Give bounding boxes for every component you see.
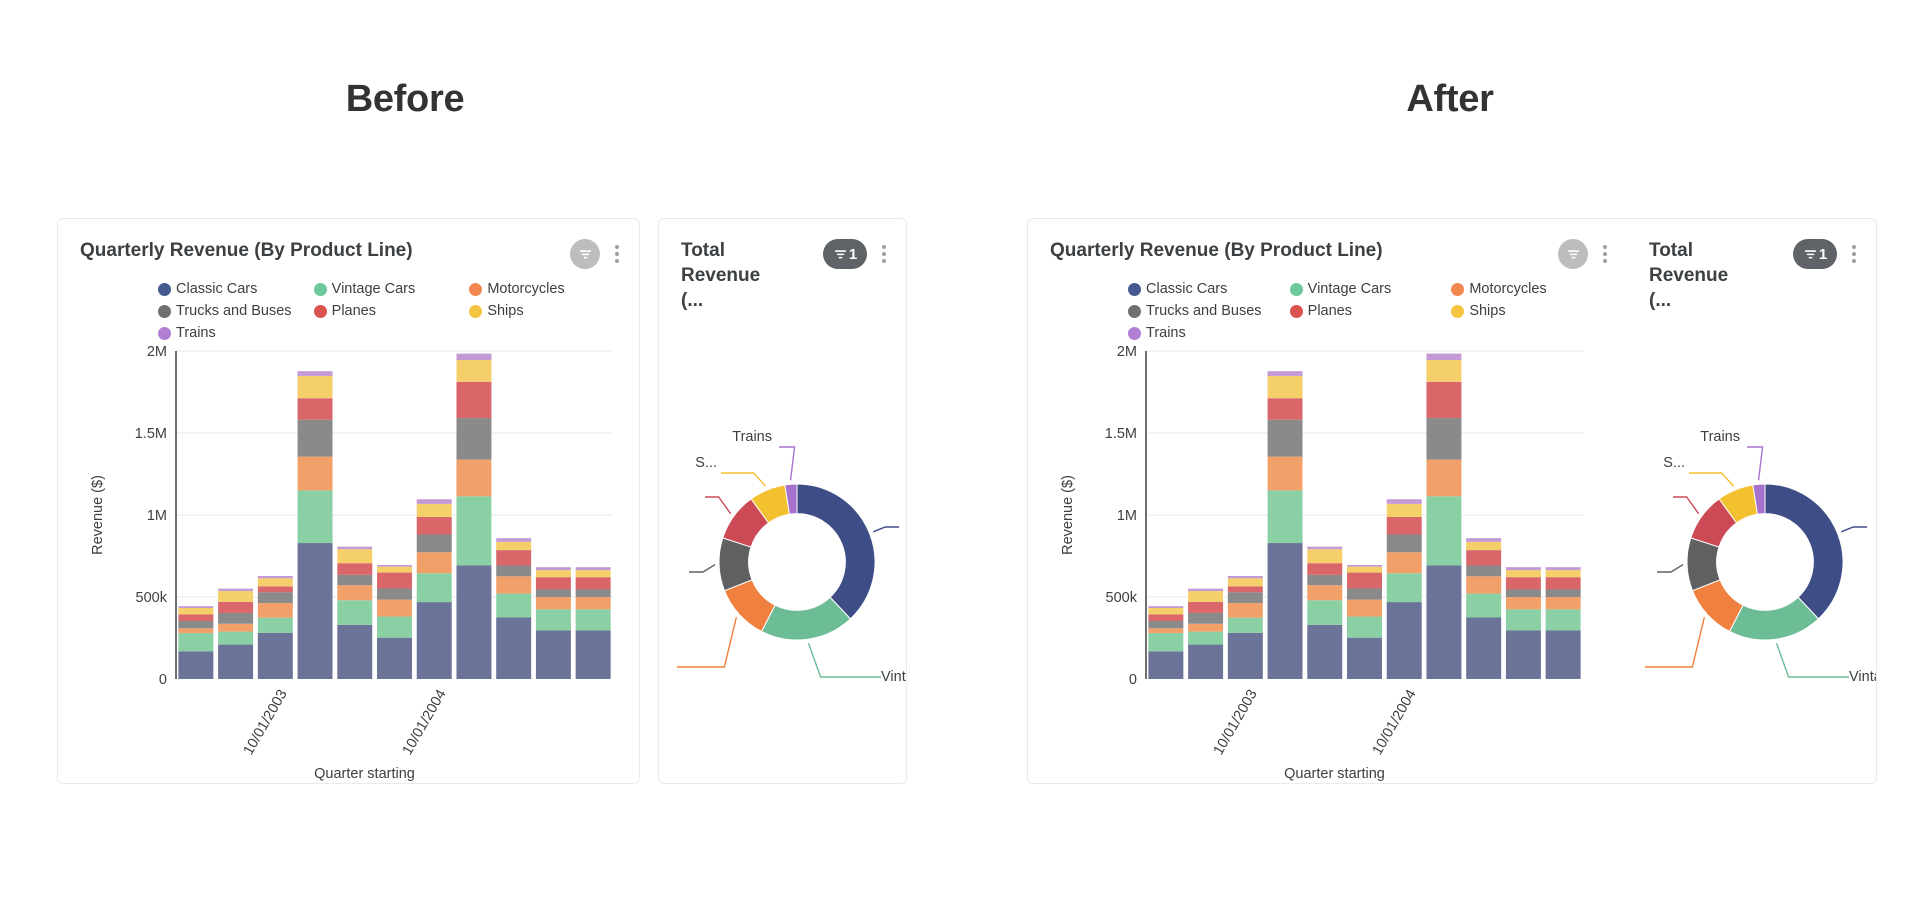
filter-icon-active[interactable]: 1 bbox=[823, 239, 867, 269]
kebab-menu-icon[interactable] bbox=[876, 241, 892, 267]
legend-swatch-trains bbox=[158, 327, 171, 340]
legend-label: Vintage Cars bbox=[1308, 281, 1392, 297]
legend-item[interactable]: Trains bbox=[1128, 325, 1290, 341]
filter-icon[interactable] bbox=[1558, 239, 1588, 269]
svg-text:Vintage...: Vintage... bbox=[1849, 669, 1876, 685]
panel-title: Quarterly Revenue (By Product Line) bbox=[1050, 238, 1383, 263]
legend-swatch-planes bbox=[314, 305, 327, 318]
legend-label: Ships bbox=[487, 303, 523, 319]
svg-text:1.5M: 1.5M bbox=[1105, 426, 1137, 442]
panel-header: Quarterly Revenue (By Product Line) bbox=[1028, 219, 1627, 269]
legend-item[interactable]: Ships bbox=[1451, 303, 1613, 319]
legend-label: Planes bbox=[332, 303, 376, 319]
bar-plot-area: 0500k1M1.5M2M10/01/200310/01/2004Quarter… bbox=[1028, 341, 1627, 784]
svg-text:10/01/2004: 10/01/2004 bbox=[400, 687, 450, 758]
legend-item[interactable]: Planes bbox=[314, 303, 470, 319]
bar-chart-panel-before: Quarterly Revenue (By Product Line) bbox=[57, 218, 640, 784]
panel-title: Total Revenue (... bbox=[681, 238, 786, 313]
legend-swatch-trucks-and-buses bbox=[158, 305, 171, 318]
legend-item[interactable]: Ships bbox=[469, 303, 625, 319]
bar-chart-panel-after: Quarterly Revenue (By Product Line) bbox=[1027, 218, 1627, 784]
legend-item[interactable]: Planes bbox=[1290, 303, 1452, 319]
svg-text:10/01/2003: 10/01/2003 bbox=[1211, 687, 1261, 758]
svg-text:Trains: Trains bbox=[732, 429, 772, 445]
filter-count-badge: 1 bbox=[1819, 246, 1827, 263]
filter-icon-active[interactable]: 1 bbox=[1793, 239, 1837, 269]
svg-text:Quarter starting: Quarter starting bbox=[314, 766, 415, 782]
legend-swatch-classic-cars bbox=[158, 283, 171, 296]
chart-legend: Classic Cars Vintage Cars Motorcycles Tr… bbox=[58, 269, 639, 341]
svg-text:Vintage...: Vintage... bbox=[881, 669, 907, 685]
svg-text:0: 0 bbox=[159, 672, 167, 688]
kebab-menu-icon[interactable] bbox=[609, 241, 625, 267]
svg-text:10/01/2004: 10/01/2004 bbox=[1370, 687, 1420, 758]
legend-swatch-vintage-cars bbox=[314, 283, 327, 296]
donut-plot-area: Vintage...S...Trains bbox=[659, 313, 906, 743]
svg-text:Revenue ($): Revenue ($) bbox=[1060, 475, 1076, 555]
panel-tools: 1 bbox=[823, 238, 892, 269]
svg-text:0: 0 bbox=[1129, 672, 1137, 688]
legend-label: Ships bbox=[1469, 303, 1505, 319]
svg-text:1M: 1M bbox=[1117, 508, 1137, 524]
legend-item[interactable]: Trains bbox=[158, 325, 314, 341]
dashboard-after: Quarterly Revenue (By Product Line) bbox=[1027, 218, 1877, 784]
legend-item[interactable]: Vintage Cars bbox=[1290, 281, 1452, 297]
donut-chart-svg: Vintage...S...Trains bbox=[659, 409, 907, 729]
legend-item[interactable]: Classic Cars bbox=[158, 281, 314, 297]
svg-text:1M: 1M bbox=[147, 508, 167, 524]
svg-text:S...: S... bbox=[1663, 455, 1685, 471]
panel-tools: 1 bbox=[1793, 238, 1862, 269]
kebab-menu-icon[interactable] bbox=[1597, 241, 1613, 267]
panel-title: Total Revenue (... bbox=[1649, 238, 1754, 313]
legend-item[interactable]: Classic Cars bbox=[1128, 281, 1290, 297]
svg-text:Trains: Trains bbox=[1700, 429, 1740, 445]
svg-text:500k: 500k bbox=[1106, 590, 1138, 606]
svg-text:500k: 500k bbox=[136, 590, 168, 606]
bar-plot-area: 0500k1M1.5M2M10/01/200310/01/2004Quarter… bbox=[58, 341, 639, 784]
legend-item[interactable]: Motorcycles bbox=[1451, 281, 1613, 297]
legend-label: Classic Cars bbox=[176, 281, 257, 297]
donut-panel-before: Total Revenue (... 1 bbox=[658, 218, 907, 784]
legend-label: Motorcycles bbox=[1469, 281, 1546, 297]
legend-item[interactable]: Trucks and Buses bbox=[158, 303, 314, 319]
panel-header: Total Revenue (... 1 bbox=[1627, 219, 1876, 313]
dashboard-before: Quarterly Revenue (By Product Line) bbox=[57, 218, 907, 784]
legend-label: Vintage Cars bbox=[332, 281, 416, 297]
legend-swatch-motorcycles bbox=[469, 283, 482, 296]
legend-label: Motorcycles bbox=[487, 281, 564, 297]
panel-tools bbox=[570, 238, 625, 269]
panel-header: Total Revenue (... 1 bbox=[659, 219, 906, 313]
bar-chart-svg: 0500k1M1.5M2M10/01/200310/01/2004Quarter… bbox=[1028, 341, 1611, 784]
legend-item[interactable]: Trucks and Buses bbox=[1128, 303, 1290, 319]
donut-panel-after: Total Revenue (... 1 bbox=[1627, 218, 1877, 784]
legend-item[interactable]: Vintage Cars bbox=[314, 281, 470, 297]
after-heading: After bbox=[1406, 78, 1493, 121]
svg-text:S...: S... bbox=[695, 455, 717, 471]
panel-header: Quarterly Revenue (By Product Line) bbox=[58, 219, 639, 269]
donut-plot-area: Vintage...S...Trains bbox=[1627, 313, 1876, 743]
legend-swatch-motorcycles bbox=[1451, 283, 1464, 296]
svg-text:Revenue ($): Revenue ($) bbox=[90, 475, 106, 555]
svg-text:10/01/2003: 10/01/2003 bbox=[241, 687, 291, 758]
svg-text:1.5M: 1.5M bbox=[135, 426, 167, 442]
legend-swatch-vintage-cars bbox=[1290, 283, 1303, 296]
legend-swatch-ships bbox=[469, 305, 482, 318]
panel-title: Quarterly Revenue (By Product Line) bbox=[80, 238, 413, 263]
legend-label: Trucks and Buses bbox=[1146, 303, 1262, 319]
bar-chart-svg: 0500k1M1.5M2M10/01/200310/01/2004Quarter… bbox=[58, 341, 640, 784]
legend-item[interactable]: Motorcycles bbox=[469, 281, 625, 297]
legend-swatch-trucks-and-buses bbox=[1128, 305, 1141, 318]
before-heading: Before bbox=[346, 78, 465, 121]
panel-tools bbox=[1558, 238, 1613, 269]
svg-text:Quarter starting: Quarter starting bbox=[1284, 766, 1385, 782]
legend-label: Trains bbox=[1146, 325, 1186, 341]
filter-icon[interactable] bbox=[570, 239, 600, 269]
svg-text:2M: 2M bbox=[1117, 344, 1137, 360]
legend-label: Trains bbox=[176, 325, 216, 341]
kebab-menu-icon[interactable] bbox=[1846, 241, 1862, 267]
filter-count-badge: 1 bbox=[849, 246, 857, 263]
legend-swatch-ships bbox=[1451, 305, 1464, 318]
legend-label: Planes bbox=[1308, 303, 1352, 319]
legend-label: Trucks and Buses bbox=[176, 303, 292, 319]
donut-chart-svg: Vintage...S...Trains bbox=[1627, 409, 1876, 729]
legend-swatch-planes bbox=[1290, 305, 1303, 318]
chart-legend: Classic Cars Vintage Cars Motorcycles Tr… bbox=[1028, 269, 1627, 341]
comparison-page: Before After Quarterly Revenue (By Produ… bbox=[0, 0, 1928, 899]
legend-swatch-classic-cars bbox=[1128, 283, 1141, 296]
legend-label: Classic Cars bbox=[1146, 281, 1227, 297]
legend-swatch-trains bbox=[1128, 327, 1141, 340]
svg-text:2M: 2M bbox=[147, 344, 167, 360]
